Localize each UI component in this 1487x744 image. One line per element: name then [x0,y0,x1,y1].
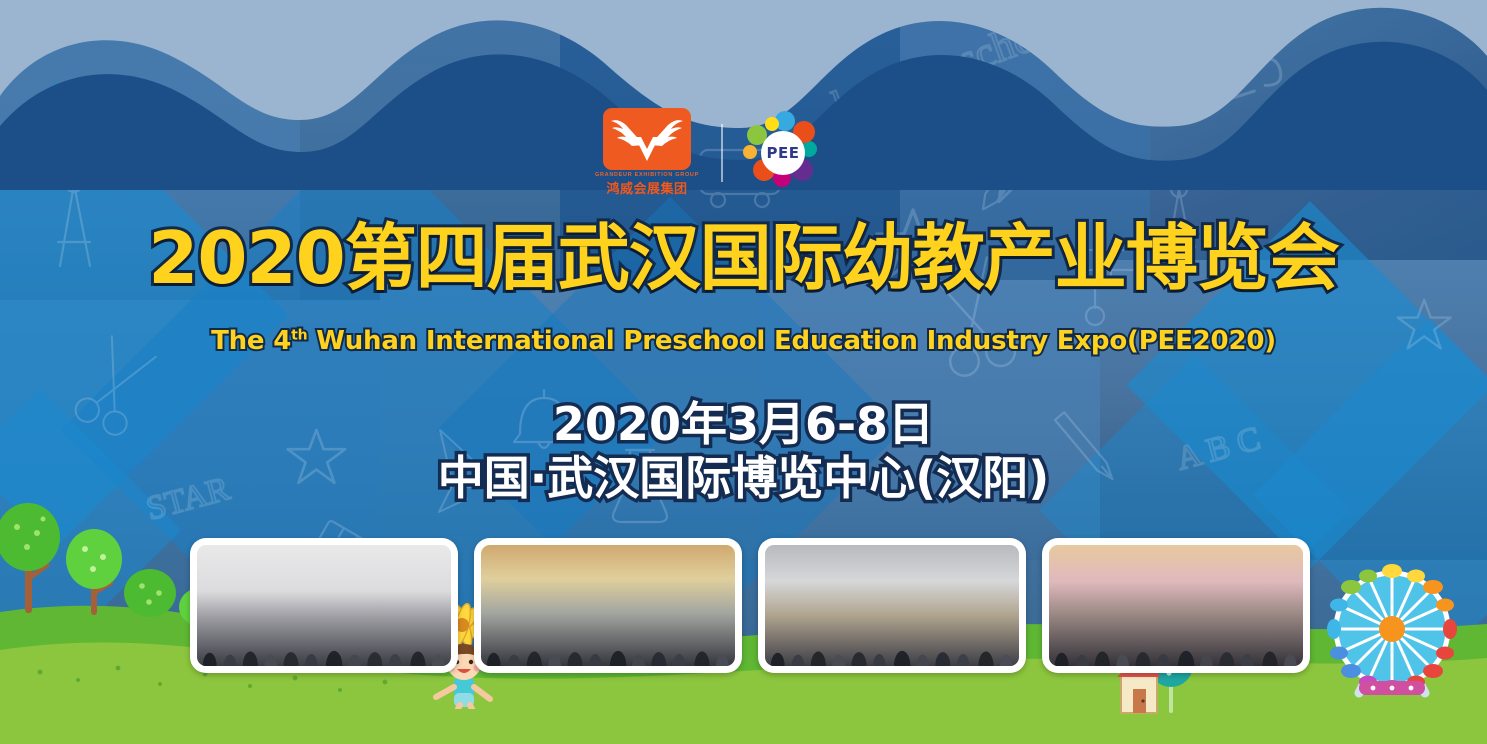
pee-blob [743,145,757,159]
hongwei-exhibition-group-logo: GRANDEUR EXHIBITION GROUP 鸿威会展集团 [595,108,699,197]
exhibition-photo-strip [190,538,1310,673]
photo-thumb-2[interactable] [474,538,742,673]
event-venue: 中国·武汉国际博览中心(汉阳) [0,442,1487,508]
logo-row: GRANDEUR EXHIBITION GROUP 鸿威会展集团 PEE [595,108,821,197]
pee-logo: PEE [745,115,821,191]
logo-divider [721,124,723,182]
pee-logo-text: PEE [766,144,799,162]
pee-blob [765,117,779,131]
subtitle-prefix: The 4 [211,326,291,356]
subtitle-rest: Wuhan International Preschool Education … [316,326,1276,356]
w-wings-mark [603,108,691,170]
event-poster-banner: back to school A B C STAR [0,0,1487,744]
thumb-crowd [1049,596,1303,666]
page-title: 2020第四届武汉国际幼教产业博览会 [0,222,1487,294]
pee-logo-core: PEE [761,131,805,175]
photo-thumb-1[interactable] [190,538,458,673]
thumb-crowd [765,596,1019,666]
subtitle-ordinal: th [291,327,307,343]
thumb-crowd [197,596,451,666]
ferris-wheel-illustration [1317,557,1467,712]
photo-thumb-4[interactable] [1042,538,1310,673]
english-subtitle: The 4th Wuhan International Preschool Ed… [0,326,1487,356]
photo-thumb-3[interactable] [758,538,1026,673]
thumb-crowd [481,596,735,666]
organizer-chinese-name: 鸿威会展集团 [606,178,687,197]
